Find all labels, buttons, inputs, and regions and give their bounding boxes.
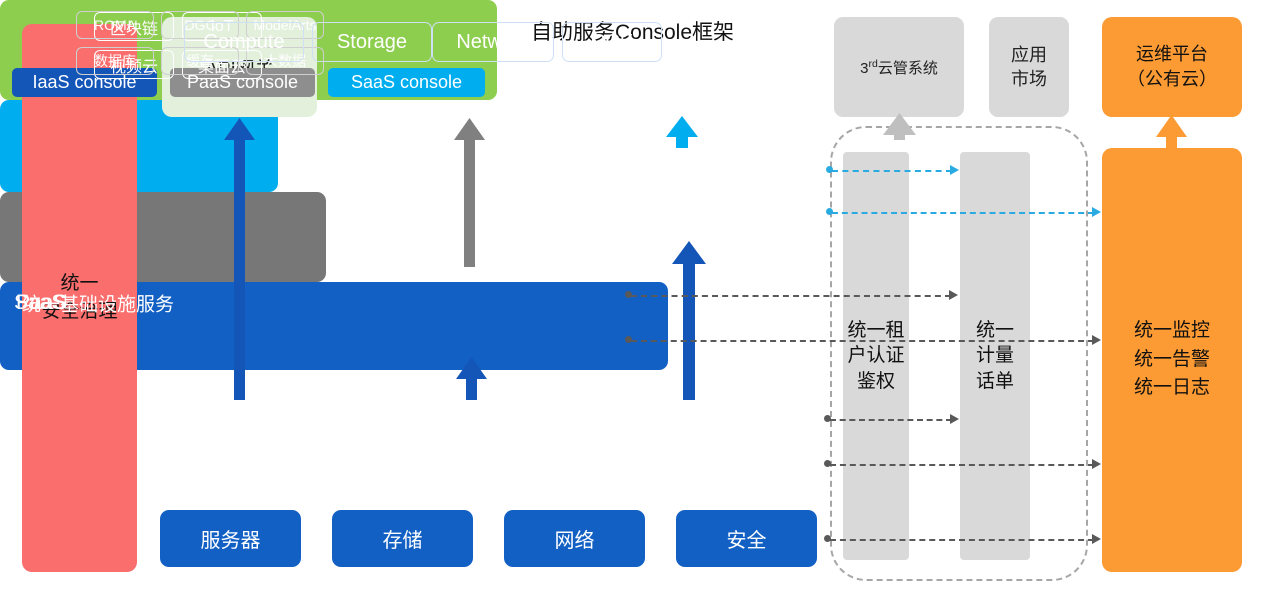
dashed-saas-to-billing: [832, 170, 952, 172]
arrowhead-icon: [1092, 207, 1101, 217]
arrowhead-icon: [949, 290, 958, 300]
dashed-infra-to-ops: [830, 464, 1094, 466]
arrow-ops-column-to-ops-platform: [1156, 115, 1187, 150]
dashed-hardware-to-ops: [830, 539, 1094, 541]
arrowhead-icon: [950, 165, 959, 175]
dashed-infra-to-billing: [830, 419, 952, 421]
dashed-saas-to-ops: [832, 212, 1094, 214]
arrowhead-icon: [950, 414, 959, 424]
arrow-infra-to-paas: [456, 357, 487, 400]
arrow-shared-to-third-party: [883, 113, 916, 140]
connector-arrows-layer: [0, 0, 1265, 605]
arrow-infra-to-saas: [672, 241, 706, 400]
arrow-paas-to-paas-console: [454, 118, 485, 267]
arrowhead-icon: [1092, 534, 1101, 544]
arrow-infra-to-api-gateway: [224, 118, 255, 400]
dashed-paas-to-auth: [631, 295, 951, 297]
arrow-saas-to-saas-console: [666, 116, 698, 148]
arrowhead-icon: [1092, 335, 1101, 345]
dashed-paas-to-ops: [631, 340, 1094, 342]
architecture-diagram: 统一 安全治理 API网关 自助服务Console框架 IaaS console…: [0, 0, 1265, 605]
arrowhead-icon: [1092, 459, 1101, 469]
